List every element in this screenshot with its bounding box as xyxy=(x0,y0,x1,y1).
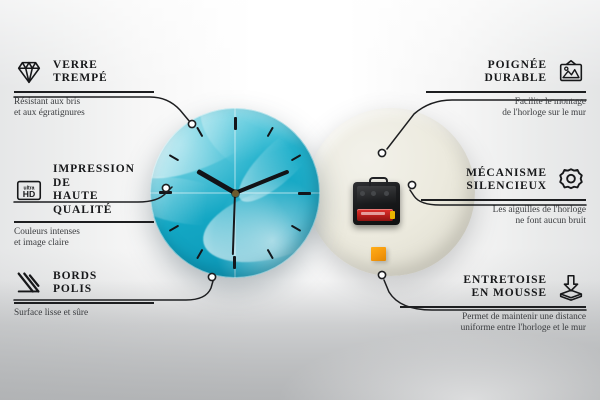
feature-divider xyxy=(426,91,586,93)
feature-title: MÉCANISME SILENCIEUX xyxy=(466,167,547,194)
connector-dot-verre-trempe xyxy=(188,120,195,127)
feature-poignee-durable: POIGNÉE DURABLE Facilite le montage de l… xyxy=(426,57,586,119)
feature-header: BORDS POLIS xyxy=(14,268,154,298)
feature-header: MÉCANISME SILENCIEUX xyxy=(421,165,586,195)
feature-title: BORDS POLIS xyxy=(53,270,97,297)
infographic-canvas: VERRE TREMPÉ Résistant aux bris et aux é… xyxy=(0,0,600,400)
feature-title: VERRE TREMPÉ xyxy=(53,59,108,86)
feature-verre-trempe: VERRE TREMPÉ Résistant aux bris et aux é… xyxy=(14,57,154,119)
connector-dot-bords-polis xyxy=(208,273,215,280)
feature-entretoise-en-mousse: ENTRETOISE EN MOUSSE Permet de maintenir… xyxy=(400,272,586,334)
feature-description: Couleurs intenses et image claire xyxy=(14,227,154,250)
feature-divider xyxy=(400,306,586,308)
svg-text:HD: HD xyxy=(23,189,35,199)
ultra-hd-icon: ultra HD xyxy=(14,175,44,205)
feature-divider xyxy=(14,91,154,93)
feature-title: IMPRESSION DE HAUTE QUALITÉ xyxy=(53,163,154,217)
hanging-frame-icon xyxy=(556,57,586,87)
feature-divider xyxy=(14,221,154,223)
connector-dot-poignee xyxy=(378,149,385,156)
feature-header: ENTRETOISE EN MOUSSE xyxy=(400,272,586,302)
feature-description: Surface lisse et sûre xyxy=(14,308,154,319)
feature-description: Résistant aux bris et aux égratignures xyxy=(14,97,154,120)
feature-header: VERRE TREMPÉ xyxy=(14,57,154,87)
feature-description: Facilite le montage de l'horloge sur le … xyxy=(426,97,586,120)
feature-divider xyxy=(14,302,154,304)
feature-description: Permet de maintenir une distance uniform… xyxy=(400,312,586,335)
polished-edges-icon xyxy=(14,268,44,298)
feature-bords-polis: BORDS POLIS Surface lisse et sûre xyxy=(14,268,154,319)
connector-dot-entretoise xyxy=(378,271,385,278)
press-down-icon xyxy=(556,272,586,302)
feature-mecanisme-silencieux: MÉCANISME SILENCIEUX Les aiguilles de l'… xyxy=(421,165,586,227)
feature-divider xyxy=(421,199,586,201)
connector-dot-mecanisme xyxy=(408,181,415,188)
gear-icon xyxy=(556,165,586,195)
feature-title: ENTRETOISE EN MOUSSE xyxy=(463,274,547,301)
feature-impression-haute-qualite: ultra HD IMPRESSION DE HAUTE QUALITÉ Cou… xyxy=(14,163,154,249)
diamond-icon xyxy=(14,57,44,87)
feature-header: ultra HD IMPRESSION DE HAUTE QUALITÉ xyxy=(14,163,154,217)
connector-dot-impression xyxy=(162,184,169,191)
feature-title: POIGNÉE DURABLE xyxy=(484,59,547,86)
feature-header: POIGNÉE DURABLE xyxy=(426,57,586,87)
feature-description: Les aiguilles de l'horloge ne font aucun… xyxy=(421,205,586,228)
